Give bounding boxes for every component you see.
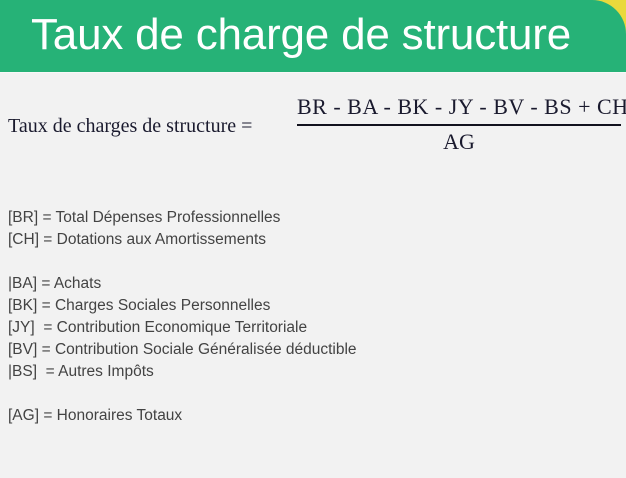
formula-numerator: BR - BA - BK - JY - BV - BS + CH <box>297 92 621 122</box>
definition-line: [CH] = Dotations aux Amortissements <box>8 229 357 251</box>
slide-canvas: Taux de charge de structure Taux de char… <box>0 0 626 478</box>
definition-group: [AG] = Honoraires Totaux <box>8 405 357 427</box>
definition-line: [BR] = Total Dépenses Professionnelles <box>8 207 357 229</box>
definition-line: |BS] = Autres Impôts <box>8 361 357 383</box>
definition-line: [BV] = Contribution Sociale Généralisée … <box>8 339 357 361</box>
formula-block: Taux de charges de structure = BR - BA -… <box>0 92 626 180</box>
header-banner: Taux de charge de structure <box>0 0 626 72</box>
definition-line: [JY] = Contribution Economique Territori… <box>8 317 357 339</box>
page-title: Taux de charge de structure <box>31 4 571 66</box>
formula-label: Taux de charges de structure = <box>8 114 252 138</box>
definition-line: [AG] = Honoraires Totaux <box>8 405 357 427</box>
definition-line: |BA] = Achats <box>8 273 357 295</box>
definitions-legend: [BR] = Total Dépenses Professionnelles [… <box>8 207 357 427</box>
definition-group: [BR] = Total Dépenses Professionnelles [… <box>8 207 357 251</box>
definition-group: |BA] = Achats [BK] = Charges Sociales Pe… <box>8 273 357 383</box>
formula-denominator: AG <box>297 127 621 157</box>
fraction-bar <box>297 124 621 126</box>
formula-fraction: BR - BA - BK - JY - BV - BS + CH AG <box>297 92 621 157</box>
definition-line: [BK] = Charges Sociales Personnelles <box>8 295 357 317</box>
